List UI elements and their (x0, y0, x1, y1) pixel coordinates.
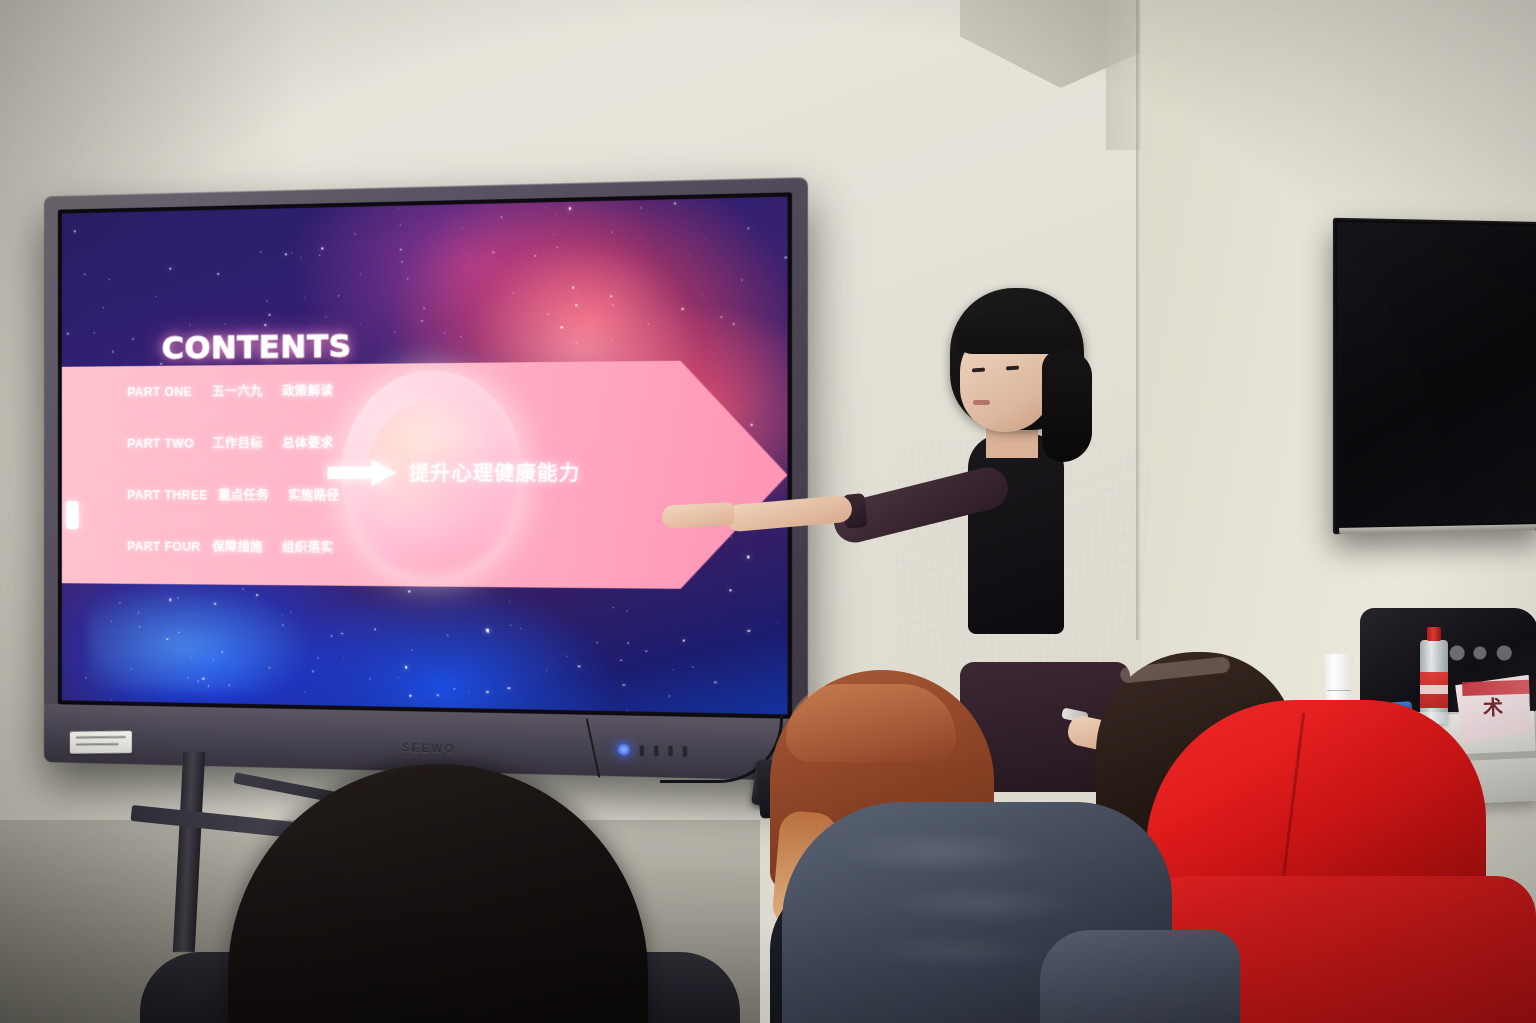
presenter-hand-pointing (661, 502, 734, 529)
list-item[interactable]: PART FOUR 保障措施 组织落实 (127, 538, 453, 592)
control-button[interactable] (640, 745, 644, 756)
water-bottle (1420, 640, 1448, 724)
bag-logo-icon (1448, 640, 1524, 666)
device-label-sticker (70, 731, 132, 754)
part-label: PART THREE (127, 488, 208, 502)
name-tent-card: 术 (1455, 675, 1531, 744)
part-desc: 政策解读 (282, 382, 333, 400)
display-screen[interactable]: CONTENTS PART ONE 五一六九 政策解读 PART TWO 工作目… (62, 197, 788, 715)
right-arrow-icon (327, 461, 396, 484)
slide-title: CONTENTS (162, 329, 352, 367)
classroom-scene: CONTENTS PART ONE 五一六九 政策解读 PART TWO 工作目… (0, 0, 1536, 1023)
blue-nebula-wisp (89, 574, 327, 696)
control-button[interactable] (654, 745, 658, 756)
interactive-flat-panel[interactable]: CONTENTS PART ONE 五一六九 政策解读 PART TWO 工作目… (44, 177, 808, 781)
presenter-turtleneck (968, 434, 1064, 634)
part-cn: 重点任务 (218, 486, 278, 503)
part-desc: 总体要求 (282, 434, 333, 452)
wall-monitor[interactable] (1333, 218, 1536, 534)
slide-headline-group: 提升心理健康能力 (327, 459, 580, 487)
cup-print (1327, 690, 1351, 691)
power-led-icon (618, 744, 630, 756)
part-cn: 保障措施 (212, 538, 272, 556)
list-item[interactable]: PART THREE 重点任务 实施路径 (127, 486, 453, 539)
bottle-cap (1427, 627, 1441, 641)
monitor-screen[interactable] (1337, 222, 1536, 526)
presenter-mouth (973, 400, 990, 405)
slide-left-marker (66, 501, 79, 529)
slide-headline: 提升心理健康能力 (409, 459, 580, 487)
part-label: PART FOUR (127, 540, 202, 555)
student-grey-jacket (1040, 930, 1240, 1023)
bottle-label (1420, 672, 1448, 708)
display-brand-logo: SEEWO (402, 742, 456, 756)
part-label: PART ONE (127, 385, 202, 400)
part-desc: 实施路径 (288, 486, 340, 503)
part-label: PART TWO (127, 437, 202, 451)
display-inner-bezel: CONTENTS PART ONE 五一六九 政策解读 PART TWO 工作目… (58, 192, 792, 718)
presenter-fringe (956, 314, 1068, 354)
tent-card-text: 术 (1482, 692, 1503, 722)
list-item[interactable]: PART ONE 五一六九 政策解读 (127, 381, 453, 435)
part-desc: 组织落实 (282, 538, 333, 556)
part-cn: 五一六九 (212, 382, 272, 400)
presenter-hair-side (1042, 350, 1092, 462)
hair-highlight (786, 684, 956, 762)
part-cn: 工作目标 (212, 434, 272, 451)
